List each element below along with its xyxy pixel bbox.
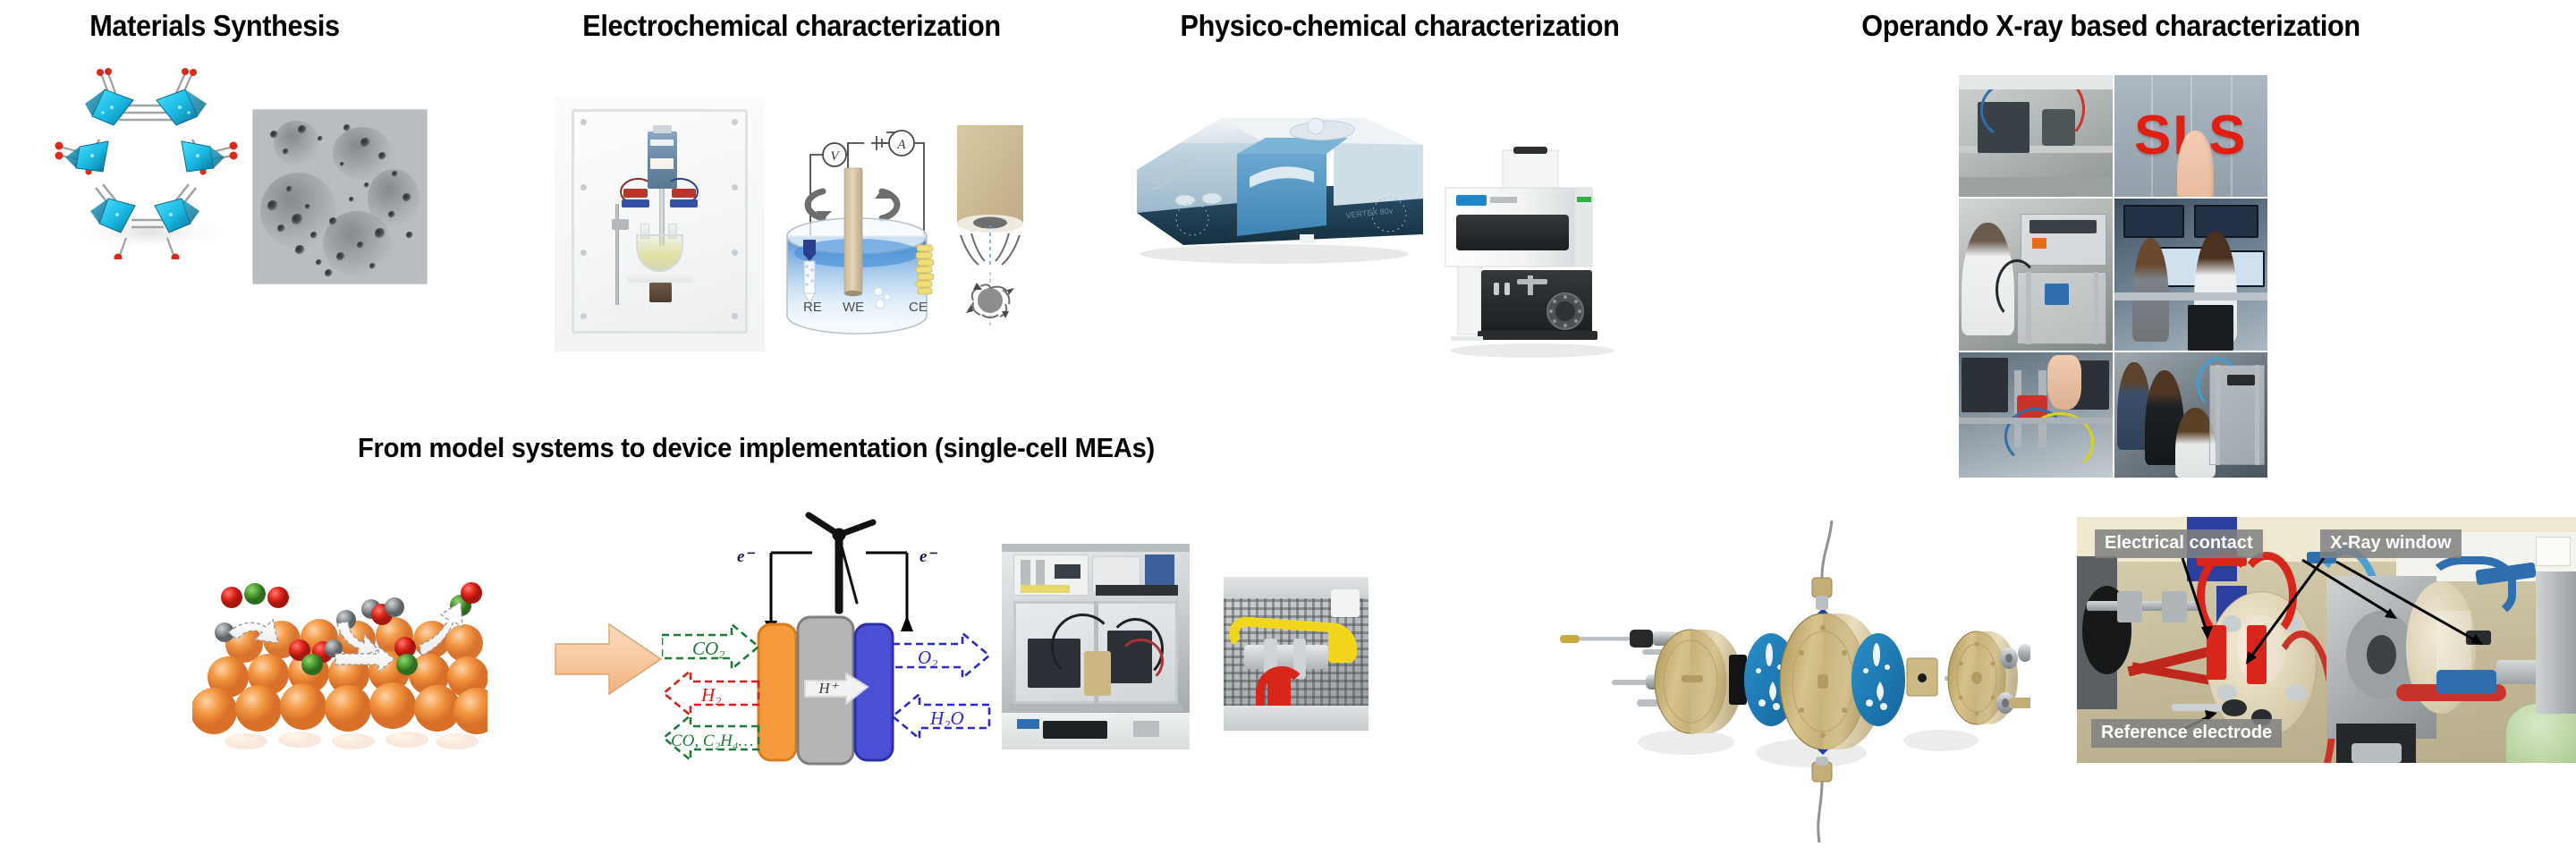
stream-h2-out: H₂ — [664, 671, 758, 715]
three-electrode-cell-schematic: V A — [767, 106, 1054, 360]
stream-label-h2: H₂ — [700, 684, 721, 706]
stream-label-co2: CO₂ — [692, 638, 724, 659]
electrode-label-we: WE — [843, 300, 864, 315]
stream-o2-out: O₂ — [893, 633, 989, 678]
stream-label-products: CO, C₂H₄… — [671, 732, 753, 750]
gas-chromatograph — [1438, 136, 1622, 360]
electron-label-left: e⁻ — [737, 547, 755, 566]
callout-reference-electrode: Reference electrode — [2091, 719, 2282, 748]
operando-cell-exploded-view — [1512, 519, 2030, 850]
researcher-at-rack-photo — [1959, 199, 2113, 351]
beamline-endstation-photo — [1959, 75, 2113, 197]
svg-text:A: A — [896, 138, 906, 152]
catalyst-surface-model — [192, 550, 487, 756]
mea-single-cell-schematic: e⁻ e⁻ H⁺ CO₂ H₂ CO, C₂ — [662, 510, 1020, 769]
process-arrow — [550, 617, 666, 702]
stream-h2o-in: H₂O — [893, 694, 989, 739]
sls-logo-thumbs-up-photo: SLS — [2114, 75, 2268, 197]
section-title-device-implementation: From model systems to device implementat… — [358, 432, 1155, 464]
column-title-materials-synthesis: Materials Synthesis — [15, 9, 414, 43]
stream-label-h2o: H₂O — [929, 707, 964, 729]
figure-canvas: Materials Synthesis Electrochemical char… — [0, 0, 2576, 855]
electrode-label-ce: CE — [909, 300, 928, 315]
operando-cell-beamline-photo: Electrical contact X-Ray window Referenc… — [2077, 517, 2576, 763]
cathode-layer — [758, 624, 796, 760]
column-title-electrochemical: Electrochemical characterization — [538, 9, 1045, 43]
tem-micrograph — [252, 109, 428, 284]
callout-x-ray-window: X-Ray window — [2320, 529, 2462, 558]
stream-products-out: CO, C₂H₄… — [664, 715, 758, 760]
electron-label-right: e⁻ — [919, 547, 937, 566]
cell-mounting-hands-photo — [1959, 352, 2113, 478]
control-room-operators-photo — [2114, 199, 2268, 351]
stream-label-o2: O₂ — [918, 647, 937, 668]
stream-co2-in: CO₂ — [662, 624, 758, 669]
single-cell-test-station-photo — [1002, 544, 1190, 749]
rotating-disk-electrode-setup — [555, 97, 765, 351]
proton-label: H⁺ — [818, 680, 839, 697]
callout-electrical-contact: Electrical contact — [2095, 529, 2263, 558]
electrode-label-re: RE — [803, 300, 822, 315]
team-at-test-bench-photo — [2114, 352, 2268, 478]
metal-organic-framework-structure — [49, 54, 241, 259]
synchrotron-photo-collage: SLS — [1959, 75, 2267, 478]
wind-turbine-icon — [809, 515, 873, 614]
ftir-spectrometer: VERTEX 80v — [1123, 100, 1427, 266]
column-title-physico-chemical: Physico-chemical characterization — [1138, 9, 1662, 43]
column-title-operando-xray: Operando X-ray based characterization — [1778, 9, 2444, 43]
cell-hardware-closeup-photo — [1224, 577, 1368, 731]
